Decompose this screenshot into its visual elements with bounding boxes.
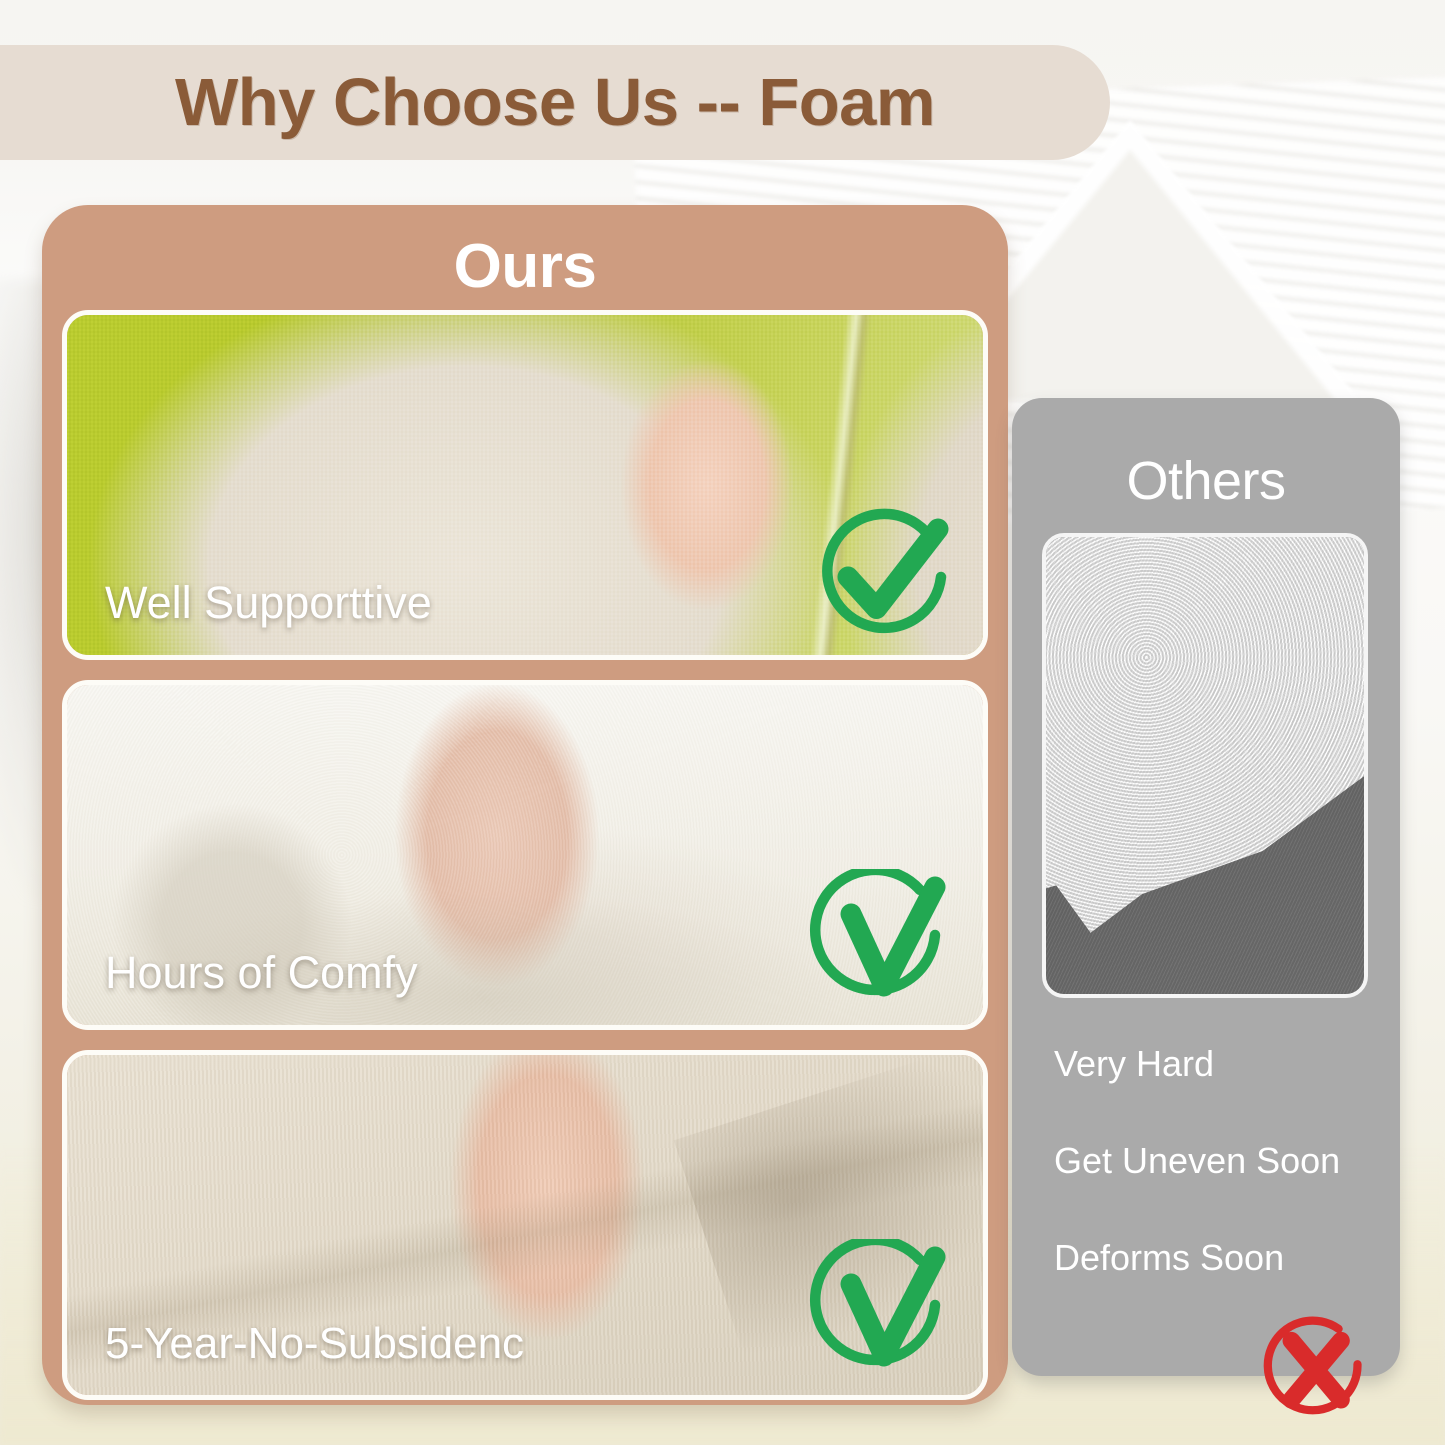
red-x-icon [1256, 1310, 1374, 1428]
others-panel-title: Others [1012, 450, 1400, 512]
others-drawback-item: Deforms Soon [1054, 1237, 1374, 1279]
ours-card-caption: 5-Year-No-Subsidenc [105, 1319, 524, 1369]
ours-panel-title: Ours [42, 231, 1008, 302]
others-panel: Others Very Hard Get Uneven Soon Deforms… [1012, 398, 1400, 1376]
page-title: Why Choose Us -- Foam [175, 64, 935, 141]
ours-feature-card: Hours of Comfy [62, 680, 988, 1030]
ours-card-caption: Hours of Comfy [105, 947, 418, 999]
green-check-icon [809, 869, 959, 1019]
ours-feature-card: Well Supporttive [62, 310, 988, 660]
others-drawback-item: Get Uneven Soon [1054, 1140, 1374, 1182]
page-title-bar: Why Choose Us -- Foam [0, 45, 1110, 160]
green-check-icon [809, 499, 959, 649]
ours-card-caption: Well Supporttive [105, 577, 432, 629]
others-drawback-list: Very Hard Get Uneven Soon Deforms Soon [1054, 1043, 1374, 1334]
infographic-canvas: Why Choose Us -- Foam Ours Well Supportt… [0, 0, 1445, 1445]
green-check-icon [809, 1239, 959, 1389]
others-drawback-item: Very Hard [1054, 1043, 1374, 1085]
others-photo-card [1042, 533, 1368, 998]
ours-panel: Ours Well Supporttive Hours of Comfy [42, 205, 1008, 1405]
others-photo-hard-foam [1046, 537, 1364, 994]
ours-feature-card: 5-Year-No-Subsidenc [62, 1050, 988, 1400]
